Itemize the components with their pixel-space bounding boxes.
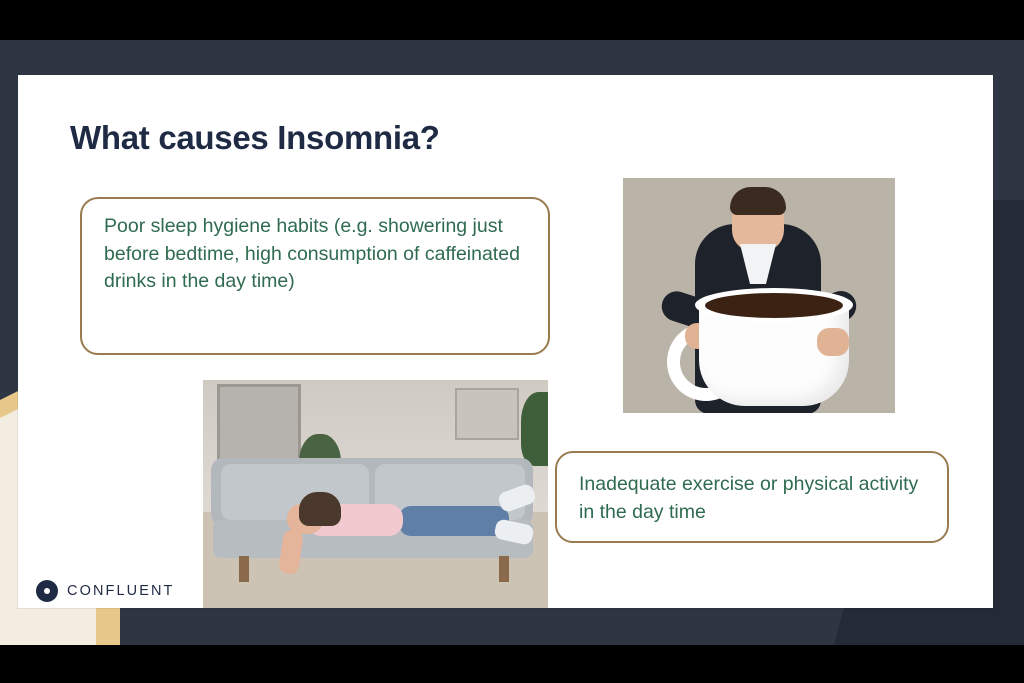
confluent-logo: CONFLUENT bbox=[36, 580, 226, 602]
callout-inadequate-exercise: Inadequate exercise or physical activity… bbox=[555, 451, 949, 543]
slide-title: What causes Insomnia? bbox=[70, 119, 440, 157]
screen: What causes Insomnia? Poor sleep hygiene… bbox=[0, 0, 1024, 683]
person-legs-shape bbox=[399, 506, 509, 536]
confluent-wordmark: CONFLUENT bbox=[67, 583, 175, 599]
photo-woman-lying-on-couch bbox=[203, 380, 548, 608]
couch-leg-right-shape bbox=[499, 556, 509, 582]
hair-shape bbox=[730, 187, 786, 215]
logo-block: CONFLUENT PULSE ALLIED HEALTH bbox=[36, 580, 226, 608]
slide-canvas: What causes Insomnia? Poor sleep hygiene… bbox=[18, 75, 993, 608]
wall-art-shape bbox=[455, 388, 519, 440]
couch-leg-left-shape bbox=[239, 556, 249, 582]
person-hair-shape bbox=[299, 492, 341, 526]
right-hand-shape bbox=[817, 328, 849, 356]
photo-man-giant-coffee-cup bbox=[623, 178, 895, 413]
coffee-liquid-shape bbox=[705, 293, 843, 318]
plant-shape bbox=[521, 392, 548, 466]
confluent-mark-icon bbox=[36, 580, 58, 602]
callout-poor-sleep-hygiene: Poor sleep hygiene habits (e.g. showerin… bbox=[80, 197, 550, 355]
